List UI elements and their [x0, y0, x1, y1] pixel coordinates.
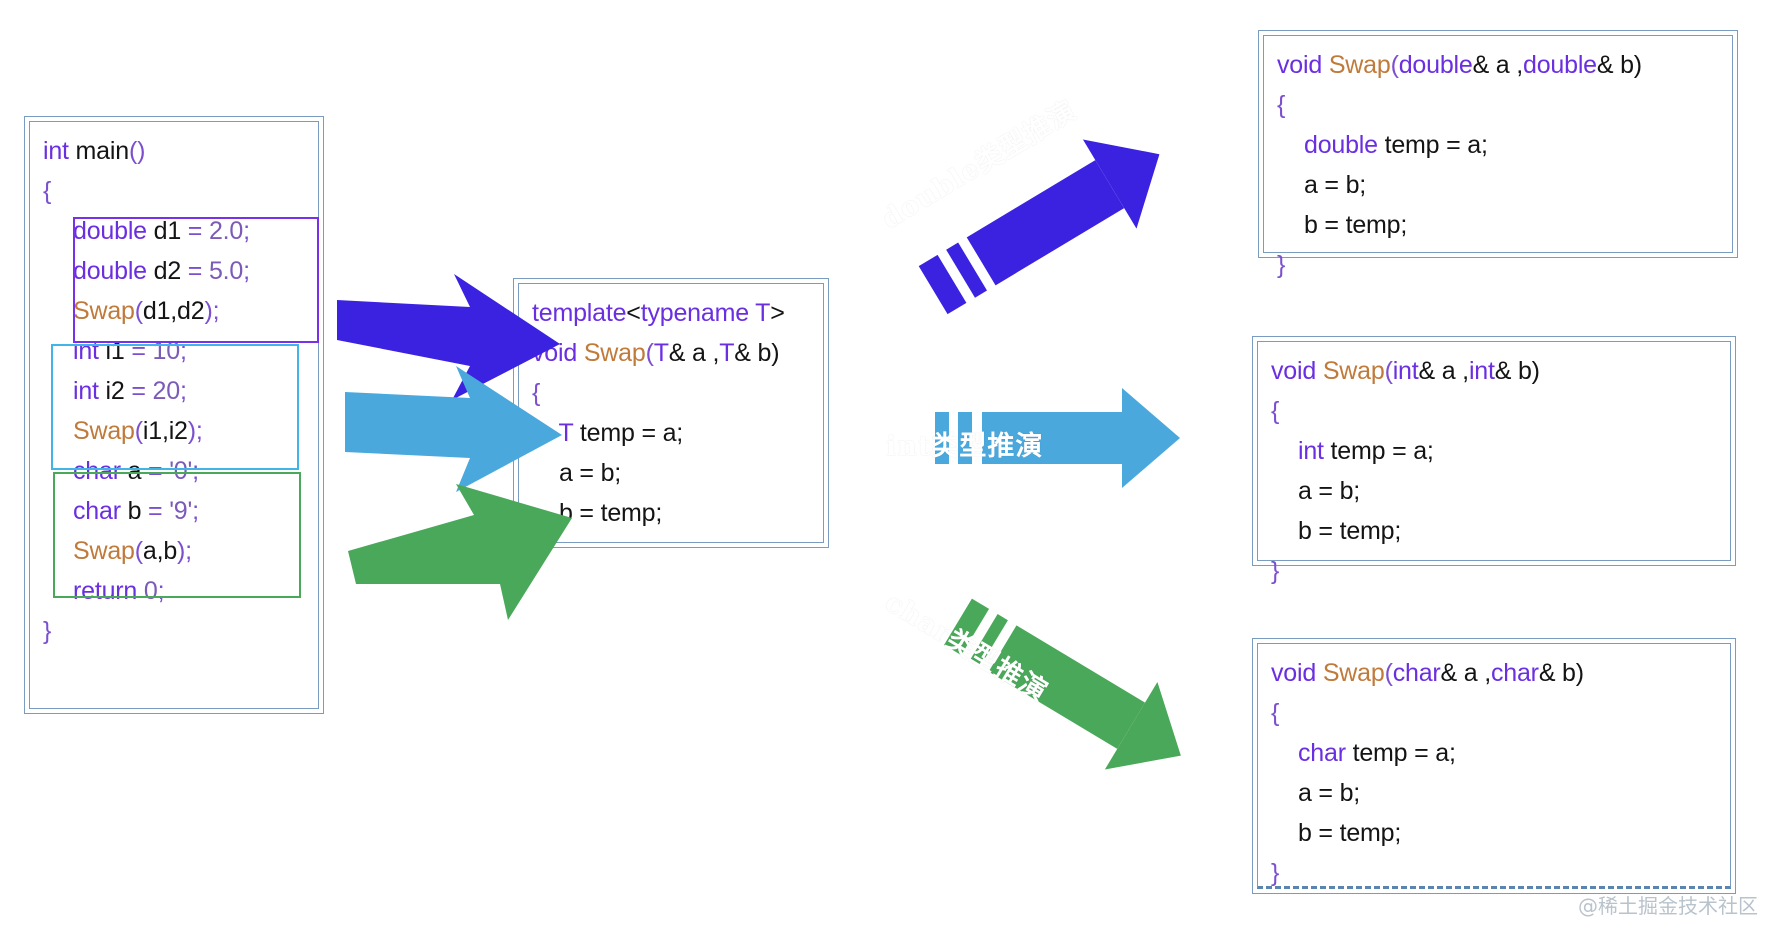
code-token: a = b; [1271, 779, 1360, 807]
code-token: & a , [669, 339, 719, 367]
code-line: b = temp; [1277, 205, 1719, 245]
code-token: Swap [1323, 659, 1385, 687]
code-token: double [1399, 51, 1473, 79]
code-token: char [1298, 739, 1346, 767]
swap-int-code: void Swap(int& a ,int& b){ int temp = a;… [1253, 337, 1735, 565]
watermark: @稀土掘金技术社区 [1578, 890, 1758, 919]
code-line: { [43, 171, 305, 211]
swap-template-code: template<typename T>void Swap(T& a ,T& b… [514, 279, 828, 547]
code-line: void Swap(T& a ,T& b) [532, 333, 810, 373]
code-token: temp = a; [1346, 739, 1456, 767]
code-token: double [1523, 51, 1597, 79]
code-token: T [654, 339, 669, 367]
code-line: } [1271, 853, 1717, 893]
code-line: b = temp; [1271, 511, 1717, 551]
code-token: & b) [1597, 51, 1642, 79]
code-line: a = b; [1271, 471, 1717, 511]
code-token: typename T [641, 299, 771, 327]
int-deduction-label: int类型推演 [886, 424, 1043, 463]
code-token: & b) [1495, 357, 1540, 385]
swap-char-instance-box: void Swap(char& a ,char& b){ char temp =… [1252, 638, 1736, 894]
code-token: () [129, 137, 145, 165]
code-token: ( [646, 339, 654, 367]
code-token [1277, 131, 1304, 159]
swap-template-box: template<typename T>void Swap(T& a ,T& b… [513, 278, 829, 548]
double-group-highlight [73, 217, 319, 343]
code-token: & a , [1473, 51, 1523, 79]
code-token: void [1271, 357, 1323, 385]
code-token: int [43, 137, 69, 165]
code-token: char [1393, 659, 1441, 687]
code-line: template<typename T> [532, 293, 810, 333]
code-token: b = temp; [1271, 819, 1401, 847]
code-token: b = temp; [1271, 517, 1401, 545]
code-line: char temp = a; [1271, 733, 1717, 773]
code-token: } [1277, 251, 1285, 279]
int-group-highlight [51, 344, 299, 470]
code-token: int [1298, 437, 1324, 465]
code-token [532, 419, 559, 447]
code-token: main [69, 137, 129, 165]
code-line: { [532, 373, 810, 413]
code-token: double [1304, 131, 1378, 159]
code-token [1271, 437, 1298, 465]
code-line: } [532, 533, 810, 573]
code-token: > [770, 299, 784, 327]
code-line: a = b; [1271, 773, 1717, 813]
code-token: char [1491, 659, 1539, 687]
swap-double-instance-box: void Swap(double& a ,double& b){ double … [1258, 30, 1738, 258]
code-line: int main() [43, 131, 305, 171]
code-token: Swap [1323, 357, 1385, 385]
code-line: void Swap(char& a ,char& b) [1271, 653, 1717, 693]
code-token: void [1271, 659, 1323, 687]
code-line: void Swap(double& a ,double& b) [1277, 45, 1719, 85]
code-token: b = temp; [532, 499, 662, 527]
code-line: } [43, 611, 305, 651]
code-line: } [1277, 245, 1719, 285]
code-token: Swap [584, 339, 646, 367]
code-line: void Swap(int& a ,int& b) [1271, 351, 1717, 391]
swap-double-code: void Swap(double& a ,double& b){ double … [1259, 31, 1737, 257]
swap-int-instance-box: void Swap(int& a ,int& b){ int temp = a;… [1252, 336, 1736, 566]
diagram-canvas: int main(){double d1 = 2.0;double d2 = 5… [0, 0, 1772, 925]
code-token: & a , [1419, 357, 1469, 385]
code-token: { [1271, 397, 1279, 425]
code-token: temp = a; [1378, 131, 1488, 159]
main-function-box: int main(){double d1 = 2.0;double d2 = 5… [24, 116, 324, 714]
code-token: void [1277, 51, 1329, 79]
code-token: temp = a; [1324, 437, 1434, 465]
char-group-highlight [53, 472, 301, 598]
code-token: a = b; [1271, 477, 1360, 505]
code-line: a = b; [1277, 165, 1719, 205]
code-line: { [1271, 391, 1717, 431]
code-token: { [1271, 699, 1279, 727]
code-line: { [1277, 85, 1719, 125]
code-line: b = temp; [1271, 813, 1717, 853]
code-token: a = b; [1277, 171, 1366, 199]
code-token: ( [1385, 659, 1393, 687]
code-line: T temp = a; [532, 413, 810, 453]
code-token: a = b; [532, 459, 621, 487]
code-token: b = temp; [1277, 211, 1407, 239]
code-token: int [1469, 357, 1495, 385]
code-token: } [532, 539, 540, 567]
code-token: T [719, 339, 734, 367]
code-token: int [1393, 357, 1419, 385]
double-deduction-label: double类型推演 [873, 89, 1082, 236]
swap-char-code: void Swap(char& a ,char& b){ char temp =… [1253, 639, 1735, 893]
code-token: & a , [1441, 659, 1491, 687]
code-token: & b) [734, 339, 779, 367]
code-token: & b) [1539, 659, 1584, 687]
code-token: Swap [1329, 51, 1391, 79]
char-deduction-arrow [932, 578, 1207, 799]
code-line: double temp = a; [1277, 125, 1719, 165]
code-token: ( [1385, 357, 1393, 385]
code-token: temp = a; [573, 419, 683, 447]
code-token: void [532, 339, 584, 367]
char-deduction-label: char类型推演 [879, 581, 1057, 709]
code-line: a = b; [532, 453, 810, 493]
code-token: { [532, 379, 540, 407]
code-token [1271, 739, 1298, 767]
code-token: } [1271, 557, 1279, 585]
code-line: int temp = a; [1271, 431, 1717, 471]
code-token: } [1271, 859, 1279, 887]
code-line: } [1271, 551, 1717, 591]
code-token: template [532, 299, 626, 327]
code-token: ( [1391, 51, 1399, 79]
code-token: < [626, 299, 640, 327]
code-token: { [1277, 91, 1285, 119]
code-line: { [1271, 693, 1717, 733]
code-line: b = temp; [532, 493, 810, 533]
code-token: T [559, 419, 574, 447]
code-token: { [43, 177, 51, 205]
code-token: } [43, 617, 51, 645]
